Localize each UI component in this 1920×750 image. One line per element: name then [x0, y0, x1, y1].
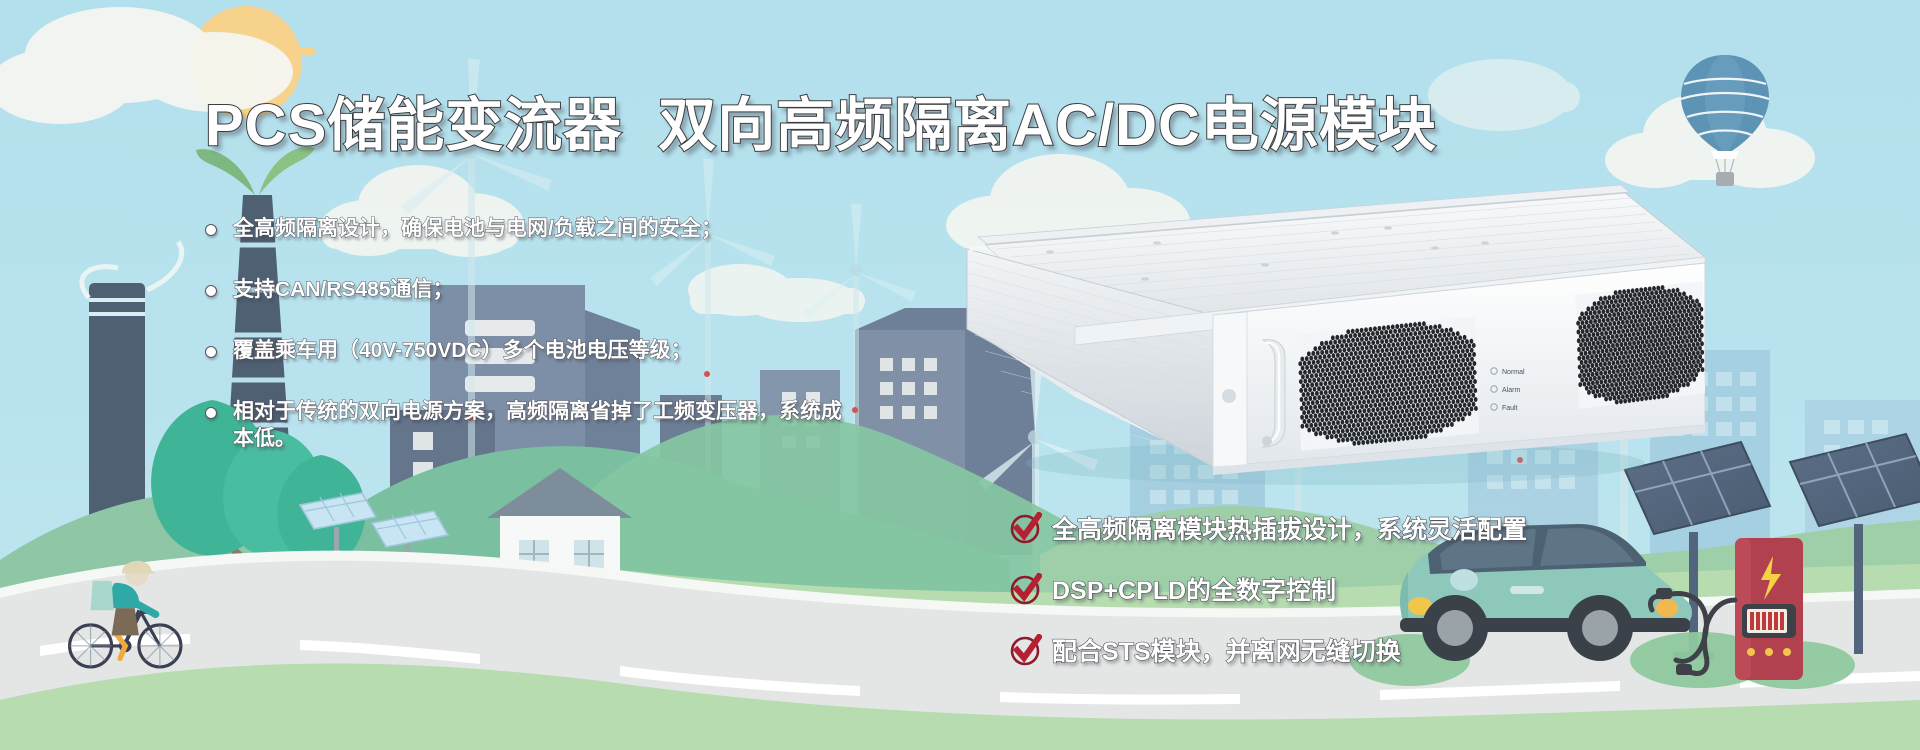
list-item: 全高频隔离模块热插拔设计，系统灵活配置	[1010, 510, 1527, 546]
red-check-mark-icon	[1010, 512, 1042, 544]
highlight-text: DSP+CPLD的全数字控制	[1052, 571, 1336, 607]
led-label-normal: Normal	[1502, 369, 1525, 376]
highlight-check-list: 全高频隔离模块热插拔设计，系统灵活配置 DSP+CPLD的全数字控制 配合STS…	[1010, 510, 1527, 668]
highlight-text: 配合STS模块，并离网无缝切换	[1052, 632, 1401, 668]
red-check-mark-icon	[1010, 573, 1042, 605]
led-label-fault: Fault	[1502, 405, 1518, 412]
bullet-dot-icon	[205, 224, 217, 236]
list-item: 支持CAN/RS485通信；	[205, 277, 845, 304]
feature-text: 覆盖乘车用（40V-750VDC）多个电池电压等级；	[233, 338, 692, 365]
bullet-dot-icon	[205, 285, 217, 297]
list-item: 全高频隔离设计，确保电池与电网/负载之间的安全；	[205, 216, 845, 243]
feature-text: 支持CAN/RS485通信；	[233, 277, 454, 304]
list-item: 配合STS模块，并离网无缝切换	[1010, 632, 1527, 668]
list-item: 覆盖乘车用（40V-750VDC）多个电池电压等级；	[205, 338, 845, 365]
headline-part2: 双向高频隔离AC/DC电源模块	[658, 93, 1437, 158]
headline-part1: PCS储能变流器	[205, 93, 622, 158]
product-device: Normal Alarm Fault	[945, 175, 1705, 485]
bullet-dot-icon	[205, 407, 217, 419]
list-item: DSP+CPLD的全数字控制	[1010, 571, 1527, 607]
bullet-dot-icon	[205, 346, 217, 358]
page-title: PCS储能变流器双向高频隔离AC/DC电源模块	[205, 78, 1437, 162]
feature-text: 全高频隔离设计，确保电池与电网/负载之间的安全；	[233, 216, 722, 243]
red-check-mark-icon	[1010, 634, 1042, 666]
led-label-alarm: Alarm	[1502, 387, 1520, 394]
feature-bullet-list: 全高频隔离设计，确保电池与电网/负载之间的安全； 支持CAN/RS485通信； …	[205, 216, 845, 452]
feature-text: 相对于传统的双向电源方案，高频隔离省掉了工频变压器，系统成本低。	[233, 399, 845, 453]
list-item: 相对于传统的双向电源方案，高频隔离省掉了工频变压器，系统成本低。	[205, 399, 845, 453]
highlight-text: 全高频隔离模块热插拔设计，系统灵活配置	[1052, 510, 1527, 546]
product-banner: Normal Alarm Fault PCS储能变流器双向高频隔离AC/DC电源…	[0, 0, 1920, 750]
